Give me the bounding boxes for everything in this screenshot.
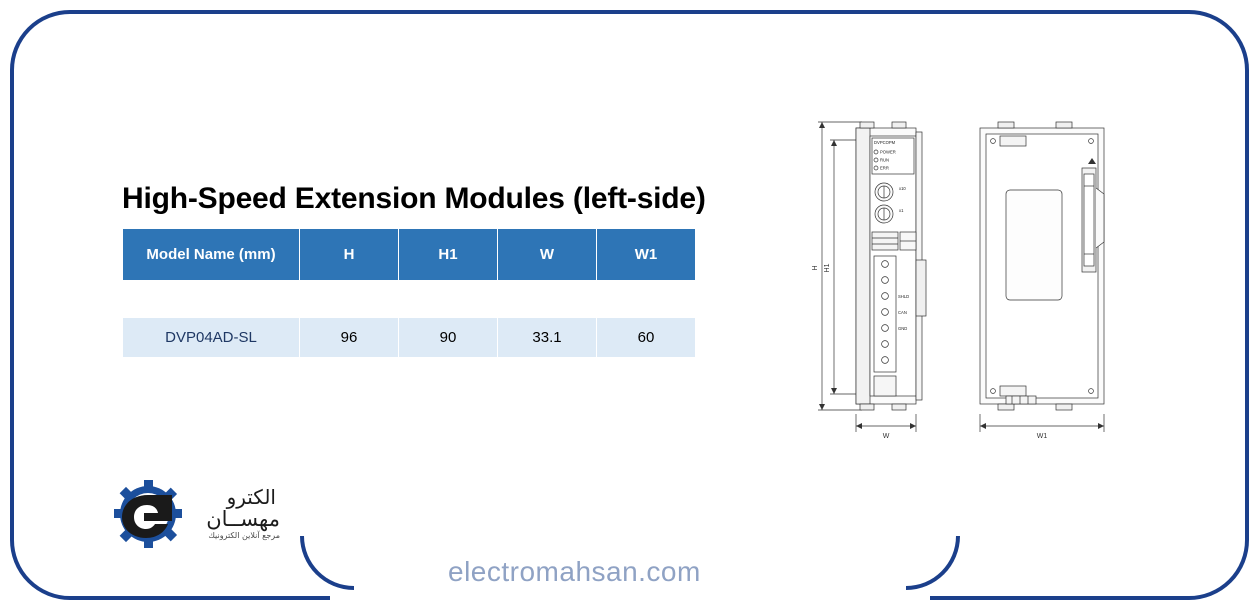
cell-h: 96 xyxy=(300,318,399,358)
logo-text-line2: مهســان xyxy=(206,507,280,531)
cell-w1: 60 xyxy=(597,318,696,358)
dimension-label-h1: H1 xyxy=(824,263,831,272)
specs-table: Model Name (mm) H H1 W W1 DVP04AD-SL 96 … xyxy=(122,228,696,358)
device-model-label: DVPCOPM xyxy=(874,140,896,145)
svg-text:CAN: CAN xyxy=(898,310,907,315)
dimension-label-h: H xyxy=(812,265,819,270)
product-dimension-drawing: DVPCOPM POWER RUN ERR x10 x1 SHLD CAN xyxy=(800,110,1140,440)
table-header-row: Model Name (mm) H H1 W W1 xyxy=(123,229,696,281)
dimension-label-w: W xyxy=(883,433,890,440)
page-title: High-Speed Extension Modules (left-side) xyxy=(122,182,706,216)
cell-w: 33.1 xyxy=(498,318,597,358)
watermark-text: electromahsan.com xyxy=(448,556,701,588)
cell-h1: 90 xyxy=(399,318,498,358)
svg-text:SHLD: SHLD xyxy=(898,294,909,299)
table-spacer-cell xyxy=(123,281,696,318)
logo-text-line1: الكترو xyxy=(226,485,276,509)
column-header-model: Model Name (mm) xyxy=(123,229,300,281)
cell-model-name: DVP04AD-SL xyxy=(123,318,300,358)
column-header-h1: H1 xyxy=(399,229,498,281)
svg-text:x1: x1 xyxy=(899,208,904,213)
column-header-w1: W1 xyxy=(597,229,696,281)
svg-text:POWER: POWER xyxy=(880,150,896,155)
dimension-label-w1: W1 xyxy=(1037,433,1048,440)
svg-text:x10: x10 xyxy=(899,186,906,191)
column-header-w: W xyxy=(498,229,597,281)
table-spacer-row xyxy=(123,281,696,318)
brand-logo: الكترو مهســان مرجع آنلاين الكترونيك xyxy=(108,478,298,550)
table-row: DVP04AD-SL 96 90 33.1 60 xyxy=(123,318,696,358)
svg-text:GND: GND xyxy=(898,326,907,331)
logo-text-line3: مرجع آنلاين الكترونيك xyxy=(208,530,280,540)
svg-text:RUN: RUN xyxy=(880,158,889,163)
column-header-h: H xyxy=(300,229,399,281)
svg-text:ERR: ERR xyxy=(880,166,889,171)
